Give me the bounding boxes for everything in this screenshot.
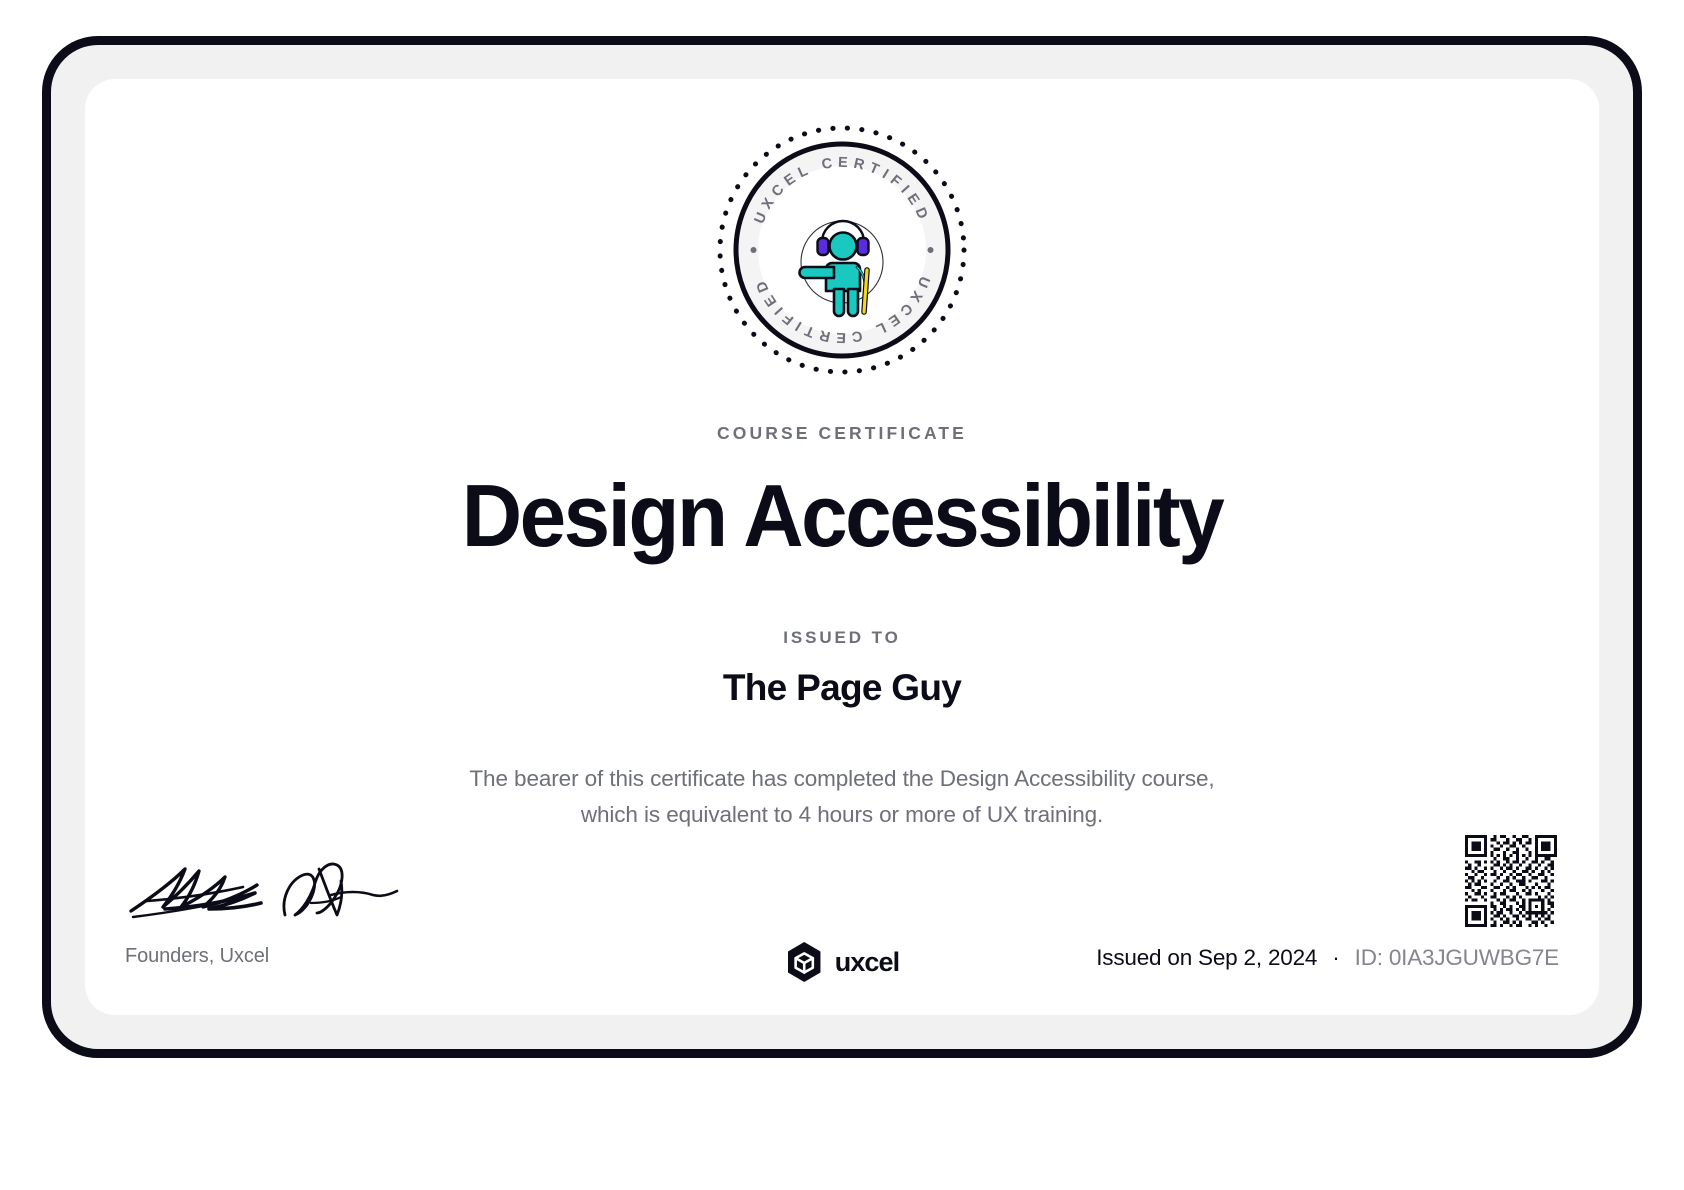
signature-block: Founders, Uxcel	[125, 851, 465, 968]
body-line-1: The bearer of this certificate has compl…	[85, 761, 1599, 797]
uxcel-logo: uxcel	[785, 941, 900, 983]
certificate-body: The bearer of this certificate has compl…	[85, 761, 1599, 833]
body-line-2: which is equivalent to 4 hours or more o…	[85, 797, 1599, 833]
certificate-meta: Issued on Sep 2, 2024 · ID: 0IA3JGUWBG7E	[1096, 945, 1559, 971]
certificate-frame: UXCEL CERTIFIED UXCEL CERTIFIED	[42, 36, 1642, 1058]
issued-to-label: ISSUED TO	[85, 628, 1599, 648]
page-title: Design Accessibility	[123, 464, 1561, 568]
uxcel-hexagon-icon	[785, 941, 824, 983]
recipient-name: The Page Guy	[85, 667, 1599, 709]
certificate-id: ID: 0IA3JGUWBG7E	[1355, 945, 1559, 970]
uxcel-certified-badge: UXCEL CERTIFIED UXCEL CERTIFIED	[714, 122, 970, 378]
meta-separator: ·	[1323, 945, 1348, 970]
signature-caption: Founders, Uxcel	[125, 945, 465, 968]
uxcel-wordmark: uxcel	[835, 947, 900, 978]
certificate-card: UXCEL CERTIFIED UXCEL CERTIFIED	[85, 79, 1599, 1015]
qr-code-icon	[1465, 835, 1557, 927]
issued-on-date: Issued on Sep 2, 2024	[1096, 945, 1317, 970]
qr-code[interactable]	[1465, 835, 1557, 927]
founder-signatures-icon	[125, 851, 415, 931]
eyebrow-label: COURSE CERTIFICATE	[85, 423, 1599, 444]
